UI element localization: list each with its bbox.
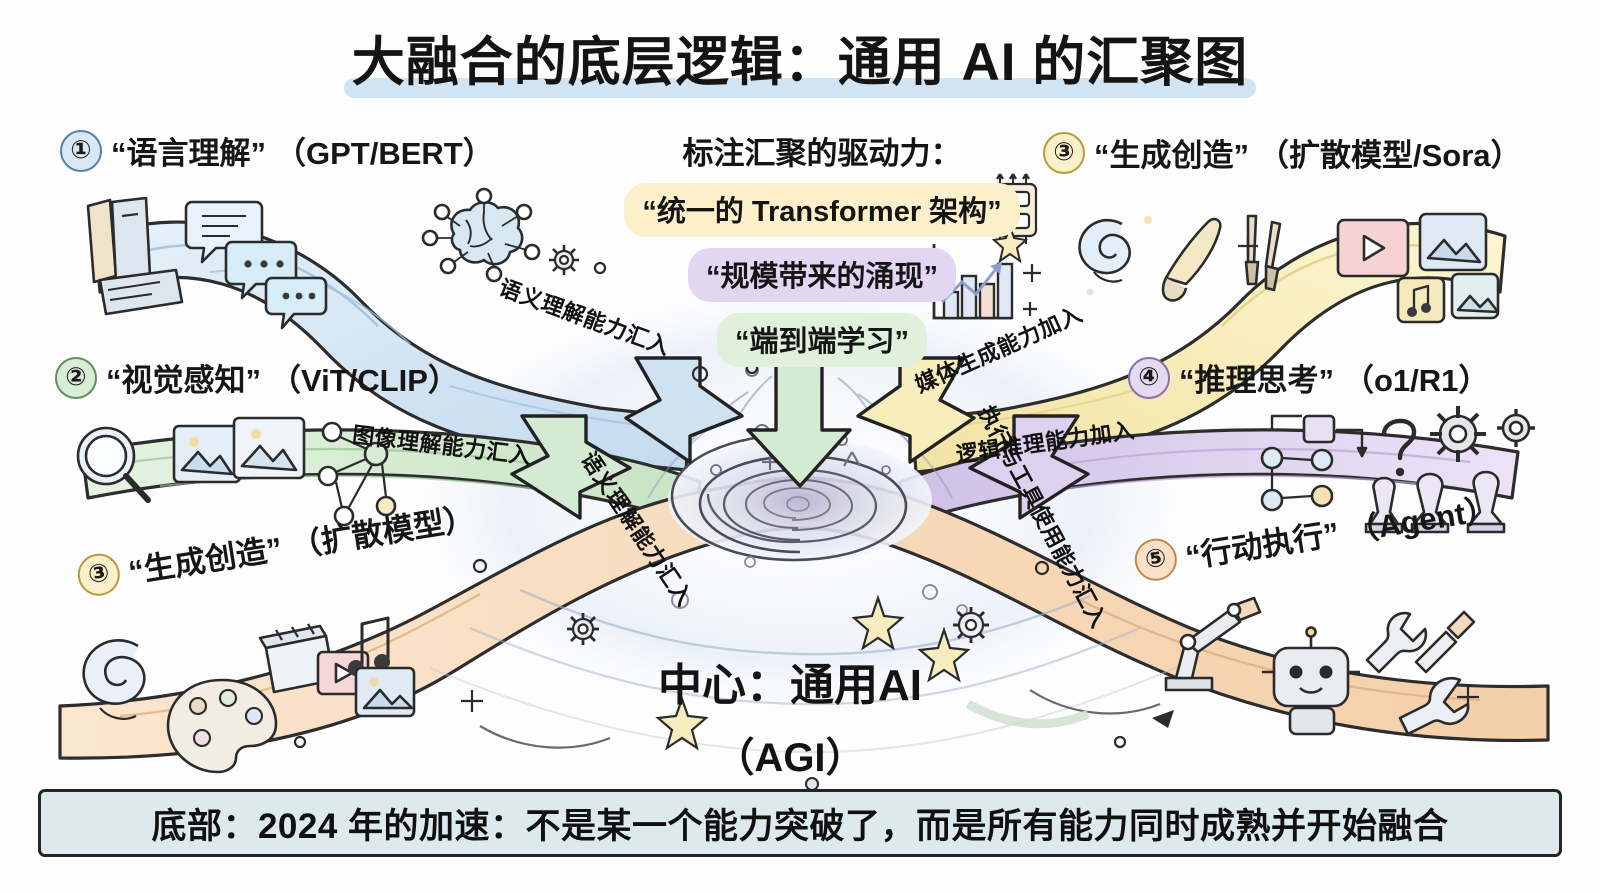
palette-icon bbox=[168, 680, 276, 772]
capability-name-2: “视觉感知” bbox=[106, 355, 261, 400]
center-agi-block: 中心：通用AI （AGI） bbox=[600, 645, 980, 783]
capability-label-vision[interactable]: ② “视觉感知” （ViT/CLIP） bbox=[55, 355, 459, 400]
bottom-banner: 底部：2024 年的加速：不是某一个能力突破了，而是所有能力同时成熟并开始融合 bbox=[38, 789, 1562, 857]
capability-number-3: ③ bbox=[1043, 132, 1085, 174]
gear-icon-small-1 bbox=[549, 245, 579, 275]
driver-transformer[interactable]: “统一的 Transformer 架构” bbox=[624, 183, 1019, 237]
driver-end-to-end[interactable]: “端到端学习” bbox=[717, 313, 927, 367]
title-label: 大融合的底层逻辑：通用 AI 的汇聚图 bbox=[352, 33, 1248, 92]
capability-number-3b: ③ bbox=[75, 550, 123, 598]
paint-swirl-icon bbox=[1080, 216, 1152, 295]
paintbrush-icon bbox=[1163, 219, 1220, 300]
drivers-block: 标注汇聚的驱动力： “统一的 Transformer 架构” “规模带来的涌现”… bbox=[612, 128, 1032, 378]
capability-label-generation-top[interactable]: ③ “生成创造” （扩散模型/Sora） bbox=[1043, 130, 1522, 175]
capability-tech-1: （GPT/BERT） bbox=[275, 128, 494, 173]
brain-network-icon bbox=[423, 189, 539, 281]
bottom-banner-text: 底部：2024 年的加速：不是某一个能力突破了，而是所有能力同时成熟并开始融合 bbox=[151, 798, 1448, 849]
gear-icon-small-2 bbox=[567, 613, 599, 645]
picture-icon bbox=[356, 668, 414, 716]
capability-number-1: ① bbox=[60, 130, 102, 172]
capability-number-4: ④ bbox=[1128, 357, 1170, 399]
capability-name-1: “语言理解” bbox=[111, 128, 266, 173]
sparkle-icon-1 bbox=[461, 690, 483, 712]
capability-tech-2: （ViT/CLIP） bbox=[270, 355, 459, 400]
gear-icon-small-3 bbox=[953, 607, 989, 643]
capability-tech-3: （扩散模型/Sora） bbox=[1258, 130, 1522, 175]
capability-label-reasoning[interactable]: ④ “推理思考” （o1/R1） bbox=[1128, 355, 1489, 400]
capability-number-2: ② bbox=[55, 357, 97, 399]
capability-number-5: ⑤ bbox=[1132, 535, 1180, 583]
capability-name-3: “生成创造” bbox=[1094, 130, 1249, 175]
driver-emergence[interactable]: “规模带来的涌现” bbox=[688, 248, 956, 302]
capability-label-language[interactable]: ① “语言理解” （GPT/BERT） bbox=[60, 128, 494, 173]
agi-main-label: 中心：通用AI bbox=[658, 661, 922, 710]
capability-name-4: “推理思考” bbox=[1179, 355, 1334, 400]
drivers-heading: 标注汇聚的驱动力： bbox=[612, 128, 1032, 173]
image-icon bbox=[174, 418, 304, 482]
page-title: 大融合的底层逻辑：通用 AI 的汇聚图 bbox=[0, 18, 1600, 102]
capability-tech-4: （o1/R1） bbox=[1343, 355, 1489, 400]
agi-sub-label: （AGI） bbox=[600, 725, 980, 783]
infographic-canvas: 大融合的底层逻辑：通用 AI 的汇聚图 ① “语言理解” （GPT/BERT） … bbox=[0, 0, 1600, 893]
